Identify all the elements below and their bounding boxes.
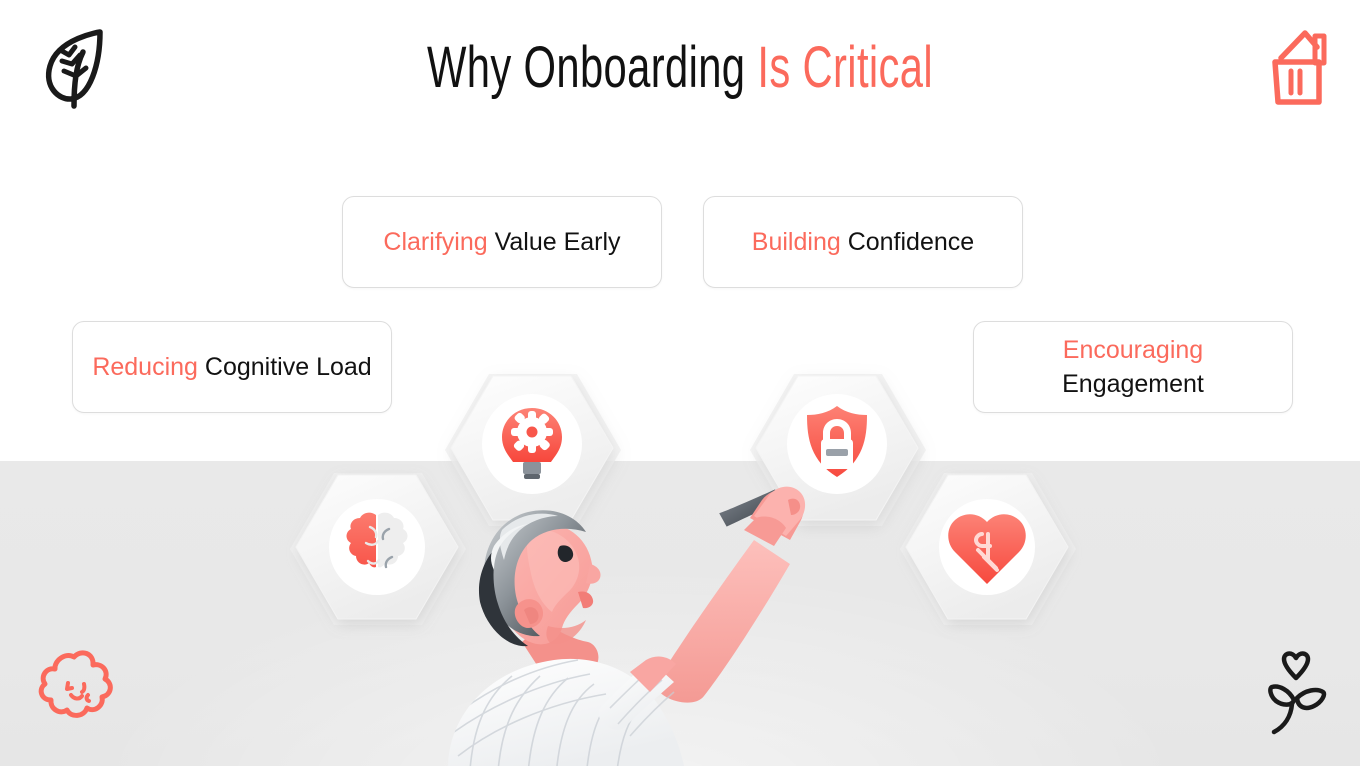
page-title-part-two: Is Critical [757,35,933,100]
card-rest: Engagement [1062,370,1204,398]
flower-doodle-icon [35,648,115,726]
card-encouraging-engagement[interactable]: Encouraging Engagement [973,321,1293,413]
card-text: Reducing Cognitive Load [92,350,371,384]
leaf-doodle-icon [38,26,112,112]
card-highlight: Clarifying [383,228,487,256]
card-text: Encouraging Engagement [990,333,1276,401]
card-highlight: Encouraging [1063,336,1203,364]
card-text: Clarifying Value Early [383,225,620,259]
sprout-heart-doodle-icon [1256,642,1336,742]
presenter-illustration [440,470,840,766]
card-rest: Confidence [841,228,974,256]
card-highlight: Building [752,228,841,256]
card-clarifying-value-early[interactable]: Clarifying Value Early [342,196,662,288]
slide-canvas: Why Onboarding Is Critical [0,0,1360,766]
page-title-part-one: Why Onboarding [427,35,745,100]
page-title: Why Onboarding Is Critical [190,36,1169,100]
card-building-confidence[interactable]: Building Confidence [703,196,1023,288]
house-doodle-icon [1261,26,1335,108]
card-reducing-cognitive-load[interactable]: Reducing Cognitive Load [72,321,392,413]
card-rest: Cognitive Load [198,353,372,381]
card-rest: Value Early [488,228,621,256]
card-highlight: Reducing [92,353,198,381]
card-text: Building Confidence [752,225,974,259]
